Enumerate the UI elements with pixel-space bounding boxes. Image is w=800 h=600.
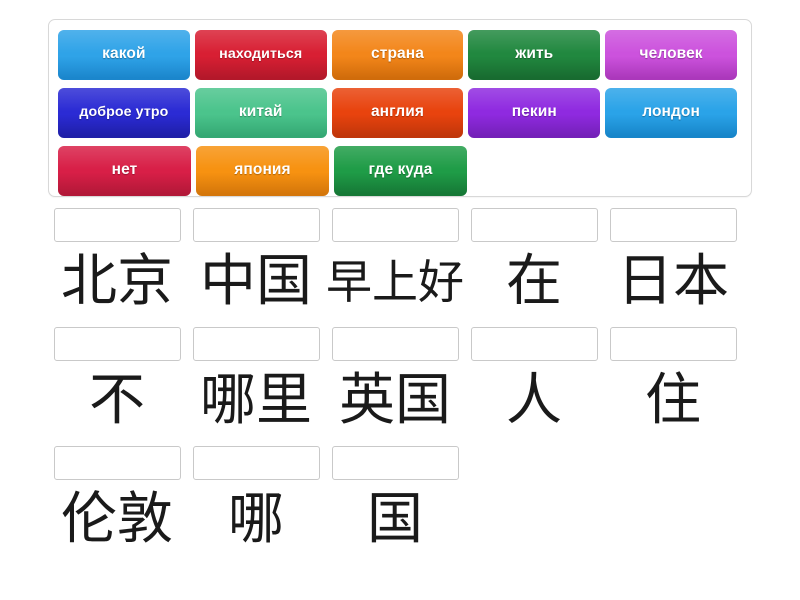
word-tile[interactable]: лондон	[605, 88, 737, 138]
word-bank-row: какойнаходитьсястранажитьчеловек	[58, 30, 742, 84]
answer-dropzone[interactable]	[54, 446, 181, 480]
word-tile[interactable]: находиться	[195, 30, 327, 80]
hanzi-prompt: 在	[506, 244, 562, 320]
word-bank-row: нетяпониягде куда	[58, 146, 742, 200]
answer-cell: 人	[465, 327, 603, 439]
hanzi-prompt: 早上好	[326, 244, 464, 320]
word-bank-panel: какойнаходитьсястранажитьчеловекдоброе у…	[48, 19, 752, 197]
word-tile[interactable]: англия	[332, 88, 464, 138]
answer-row: 伦敦哪国	[48, 446, 752, 558]
word-tile[interactable]: страна	[332, 30, 464, 80]
hanzi-prompt: 哪里	[200, 363, 312, 439]
answer-cell: 不	[48, 327, 186, 439]
answer-cell: 哪里	[187, 327, 325, 439]
hanzi-prompt: 国	[367, 482, 423, 558]
word-tile[interactable]: человек	[605, 30, 737, 80]
answer-cell: 北京	[48, 208, 186, 320]
answer-dropzone[interactable]	[332, 446, 459, 480]
answer-cell: 英国	[326, 327, 464, 439]
word-tile[interactable]: япония	[196, 146, 329, 196]
hanzi-prompt: 北京	[61, 244, 173, 320]
answer-dropzone[interactable]	[193, 327, 320, 361]
answer-dropzone[interactable]	[193, 208, 320, 242]
answer-cell: 在	[465, 208, 603, 320]
answer-dropzone[interactable]	[610, 327, 737, 361]
answer-cell: 日本	[604, 208, 742, 320]
hanzi-prompt: 日本	[617, 244, 729, 320]
word-tile[interactable]: где куда	[334, 146, 467, 196]
hanzi-prompt: 哪	[228, 482, 284, 558]
hanzi-prompt: 人	[506, 363, 562, 439]
word-tile[interactable]: какой	[58, 30, 190, 80]
word-tile[interactable]: китай	[195, 88, 327, 138]
hanzi-prompt: 住	[645, 363, 701, 439]
word-tile[interactable]: нет	[58, 146, 191, 196]
answer-dropzone[interactable]	[471, 327, 598, 361]
answer-cell: 中国	[187, 208, 325, 320]
answer-cell: 早上好	[326, 208, 464, 320]
answer-cell: 哪	[187, 446, 325, 558]
hanzi-prompt: 不	[89, 363, 145, 439]
word-tile[interactable]: доброе утро	[58, 88, 190, 138]
answer-grid: 北京中国早上好在日本不哪里英国人住伦敦哪国	[48, 208, 752, 565]
answer-dropzone[interactable]	[610, 208, 737, 242]
word-bank-row: доброе утрокитайанглияпекинлондон	[58, 88, 742, 142]
answer-dropzone[interactable]	[471, 208, 598, 242]
answer-dropzone[interactable]	[193, 446, 320, 480]
word-tile[interactable]: жить	[468, 30, 600, 80]
word-tile[interactable]: пекин	[468, 88, 600, 138]
answer-dropzone[interactable]	[54, 208, 181, 242]
answer-dropzone[interactable]	[332, 208, 459, 242]
answer-cell: 伦敦	[48, 446, 186, 558]
answer-row: 不哪里英国人住	[48, 327, 752, 439]
answer-dropzone[interactable]	[54, 327, 181, 361]
answer-cell: 国	[326, 446, 464, 558]
answer-dropzone[interactable]	[332, 327, 459, 361]
hanzi-prompt: 中国	[200, 244, 312, 320]
hanzi-prompt: 伦敦	[61, 482, 173, 558]
hanzi-prompt: 英国	[339, 363, 451, 439]
answer-row: 北京中国早上好在日本	[48, 208, 752, 320]
answer-cell: 住	[604, 327, 742, 439]
